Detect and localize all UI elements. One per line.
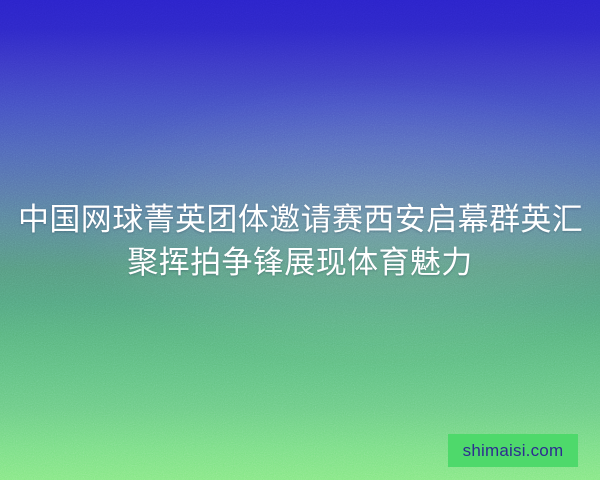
title-line-2: 聚挥拍争锋展现体育魅力	[18, 241, 582, 284]
poster-title: 中国网球菁英团体邀请赛西安启幕群英汇 聚挥拍争锋展现体育魅力	[0, 198, 600, 284]
poster-image: 中国网球菁英团体邀请赛西安启幕群英汇 聚挥拍争锋展现体育魅力 shimaisi.…	[0, 0, 600, 480]
watermark-text: shimaisi.com	[463, 442, 564, 459]
title-line-1: 中国网球菁英团体邀请赛西安启幕群英汇	[18, 198, 582, 241]
watermark-badge: shimaisi.com	[448, 434, 578, 467]
